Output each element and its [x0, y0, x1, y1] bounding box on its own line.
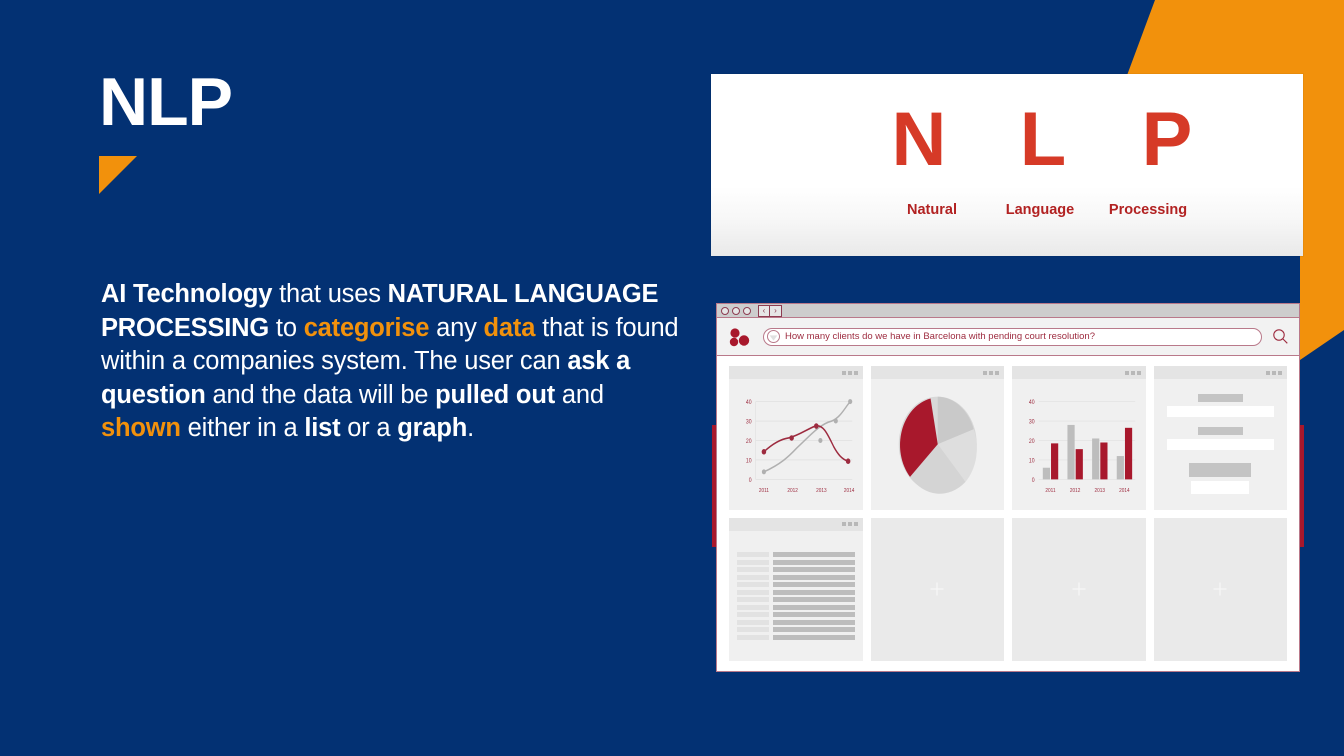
- list-item[interactable]: [737, 575, 855, 580]
- svg-text:2011: 2011: [1045, 488, 1055, 495]
- copy-seg-6: data: [484, 314, 536, 342]
- copy-seg-13: either in a: [181, 414, 305, 442]
- add-plus-icon[interactable]: [1072, 582, 1086, 596]
- nlp-letter-n: N: [879, 102, 959, 178]
- widget-menu-dot-icon[interactable]: [848, 371, 852, 375]
- title-block: NLP: [99, 68, 679, 199]
- list-item-bar: [773, 567, 855, 572]
- widget-menu-dot-icon[interactable]: [1137, 371, 1141, 375]
- widget-row-1: 40 30 20 10 0: [729, 366, 1287, 510]
- widget-menu-dot-icon[interactable]: [1278, 371, 1282, 375]
- list-item-bar: [773, 627, 855, 632]
- list-item[interactable]: [737, 590, 855, 595]
- list-item-bar: [773, 635, 855, 640]
- nlp-illustration-card: N L P Natural Language Processing: [711, 74, 1303, 256]
- list-placeholder-canvas: [729, 531, 863, 662]
- window-minimize-icon[interactable]: [721, 307, 729, 315]
- svg-text:20: 20: [1029, 439, 1035, 446]
- list-item[interactable]: [737, 635, 855, 640]
- body-copy: AI Technology that uses NATURAL LANGUAGE…: [101, 278, 681, 446]
- widget-empty-panel-3[interactable]: [1154, 518, 1288, 662]
- search-input[interactable]: How many clients do we have in Barcelona…: [763, 328, 1262, 346]
- svg-text:40: 40: [1029, 400, 1035, 407]
- add-plus-icon[interactable]: [1213, 582, 1227, 596]
- form-field-label: [1198, 394, 1243, 402]
- widget-menu-dot-icon[interactable]: [854, 371, 858, 375]
- list-item-bar: [773, 590, 855, 595]
- list-item-label: [737, 612, 769, 617]
- list-item-bar: [773, 597, 855, 602]
- widget-empty-panel-2[interactable]: [1012, 518, 1146, 662]
- empty-panel-canvas: [1012, 518, 1146, 662]
- list-item[interactable]: [737, 597, 855, 602]
- list-item-label: [737, 552, 769, 557]
- list-item-label: [737, 597, 769, 602]
- copy-seg-10: pulled out: [435, 381, 555, 409]
- copy-seg-3: to: [269, 314, 304, 342]
- list-item[interactable]: [737, 612, 855, 617]
- svg-text:2014: 2014: [844, 488, 855, 495]
- list-item-bar: [773, 552, 855, 557]
- pie-chart-svg: [871, 379, 1005, 510]
- widget-header: [1012, 366, 1146, 379]
- widget-header: [729, 366, 863, 379]
- svg-text:2011: 2011: [759, 488, 769, 495]
- list-item-label: [737, 627, 769, 632]
- nlp-word-processing: Processing: [1107, 202, 1189, 218]
- widget-menu-dot-icon[interactable]: [995, 371, 999, 375]
- window-close-icon[interactable]: [743, 307, 751, 315]
- copy-seg-15: or a: [340, 414, 397, 442]
- svg-text:2012: 2012: [787, 488, 798, 495]
- copy-seg-16: graph: [397, 414, 467, 442]
- widget-empty-panel-1[interactable]: [871, 518, 1005, 662]
- window-maximize-icon[interactable]: [732, 307, 740, 315]
- list-item-label: [737, 635, 769, 640]
- bar-chart-svg: 40 30 20 10 0: [1012, 379, 1146, 510]
- search-query-text: How many clients do we have in Barcelona…: [785, 331, 1095, 342]
- widget-form-placeholder[interactable]: [1154, 366, 1288, 510]
- widget-menu-dot-icon[interactable]: [842, 522, 846, 526]
- list-item-label: [737, 582, 769, 587]
- nlp-word-natural: Natural: [891, 202, 973, 218]
- list-item-label: [737, 560, 769, 565]
- svg-text:2013: 2013: [1095, 488, 1106, 495]
- bar-chart-canvas: 40 30 20 10 0: [1012, 379, 1146, 510]
- list-item-label: [737, 605, 769, 610]
- form-field-label: [1198, 427, 1243, 435]
- list-item-label: [737, 620, 769, 625]
- list-item-label: [737, 590, 769, 595]
- list-item[interactable]: [737, 552, 855, 557]
- widget-menu-dot-icon[interactable]: [854, 522, 858, 526]
- widget-menu-dot-icon[interactable]: [983, 371, 987, 375]
- copy-seg-14: list: [304, 414, 340, 442]
- nlp-words: Natural Language Processing: [711, 202, 1303, 218]
- copy-seg-17: .: [467, 414, 474, 442]
- list-rows: [729, 531, 863, 662]
- widget-menu-dot-icon[interactable]: [842, 371, 846, 375]
- widget-header: [1154, 366, 1288, 379]
- form-field-input[interactable]: [1167, 439, 1275, 450]
- list-item-label: [737, 567, 769, 572]
- widget-line-chart[interactable]: 40 30 20 10 0: [729, 366, 863, 510]
- line-chart-canvas: 40 30 20 10 0: [729, 379, 863, 510]
- copy-seg-1: that uses: [272, 280, 387, 308]
- list-item[interactable]: [737, 620, 855, 625]
- nlp-letters: N L P: [711, 102, 1303, 178]
- list-item-bar: [773, 605, 855, 610]
- list-item-bar: [773, 612, 855, 617]
- widget-menu-dot-icon[interactable]: [1125, 371, 1129, 375]
- copy-seg-4: categorise: [304, 314, 430, 342]
- page-title: NLP: [99, 68, 679, 136]
- back-arrow-icon[interactable]: ‹: [758, 305, 770, 317]
- nlp-letter-l: L: [1003, 102, 1083, 178]
- widget-menu-dot-icon[interactable]: [1272, 371, 1276, 375]
- copy-seg-12: shown: [101, 414, 181, 442]
- form-submit-button[interactable]: [1189, 463, 1251, 477]
- slide-root: NLP AI Technology that uses NATURAL LANG…: [0, 0, 1344, 756]
- form-placeholder-canvas: [1154, 379, 1288, 510]
- form-field-input[interactable]: [1191, 481, 1249, 494]
- line-chart-svg: 40 30 20 10 0: [729, 379, 863, 510]
- widget-menu-dot-icon[interactable]: [848, 522, 852, 526]
- widget-pie-chart[interactable]: [871, 366, 1005, 510]
- nlp-letter-p: P: [1127, 102, 1207, 178]
- list-item[interactable]: [737, 560, 855, 565]
- widget-row-2: [729, 518, 1287, 662]
- copy-seg-0: AI Technology: [101, 280, 272, 308]
- query-bullet-icon: [767, 330, 780, 343]
- widget-menu-dot-icon[interactable]: [1266, 371, 1270, 375]
- dashboard-mockup: ‹ › How many clients do we have in Barce…: [712, 303, 1304, 672]
- svg-text:2014: 2014: [1119, 488, 1130, 495]
- copy-seg-5: any: [429, 314, 483, 342]
- widget-header: [729, 518, 863, 531]
- svg-text:10: 10: [746, 458, 752, 465]
- list-item[interactable]: [737, 627, 855, 632]
- svg-text:30: 30: [746, 419, 752, 426]
- list-item-bar: [773, 560, 855, 565]
- brand-dots-logo-icon: [729, 327, 753, 347]
- svg-text:0: 0: [1032, 478, 1035, 485]
- browser-nav-arrows: ‹ ›: [758, 305, 782, 317]
- widget-menu-dot-icon[interactable]: [1131, 371, 1135, 375]
- empty-panel-canvas: [871, 518, 1005, 662]
- pie-chart-canvas: [871, 379, 1005, 510]
- svg-text:10: 10: [1029, 458, 1035, 465]
- svg-text:0: 0: [749, 478, 752, 485]
- empty-panel-canvas: [1154, 518, 1288, 662]
- list-item-bar: [773, 575, 855, 580]
- svg-text:30: 30: [1029, 419, 1035, 426]
- list-item[interactable]: [737, 567, 855, 572]
- search-bar: How many clients do we have in Barcelona…: [717, 318, 1299, 356]
- svg-text:2013: 2013: [816, 488, 827, 495]
- svg-text:2012: 2012: [1070, 488, 1081, 495]
- list-item-label: [737, 575, 769, 580]
- dashboard-grid: 40 30 20 10 0: [717, 356, 1299, 671]
- widget-list-placeholder[interactable]: [729, 518, 863, 662]
- svg-text:20: 20: [746, 439, 752, 446]
- widget-header: [871, 366, 1005, 379]
- list-item[interactable]: [737, 605, 855, 610]
- svg-text:40: 40: [746, 400, 752, 407]
- nlp-word-language: Language: [999, 202, 1081, 218]
- browser-titlebar: ‹ ›: [717, 304, 1299, 318]
- search-icon[interactable]: [1272, 328, 1289, 345]
- list-item-bar: [773, 620, 855, 625]
- list-item[interactable]: [737, 582, 855, 587]
- widget-menu-dot-icon[interactable]: [989, 371, 993, 375]
- widget-bar-chart[interactable]: 40 30 20 10 0: [1012, 366, 1146, 510]
- copy-seg-11: and: [555, 381, 604, 409]
- forward-arrow-icon[interactable]: ›: [770, 305, 782, 317]
- list-item-bar: [773, 582, 855, 587]
- orange-triangle-accent: [99, 156, 137, 194]
- copy-seg-9: and the data will be: [206, 381, 436, 409]
- add-plus-icon[interactable]: [930, 582, 944, 596]
- browser-window: ‹ › How many clients do we have in Barce…: [716, 303, 1300, 672]
- form-field-input[interactable]: [1167, 406, 1275, 417]
